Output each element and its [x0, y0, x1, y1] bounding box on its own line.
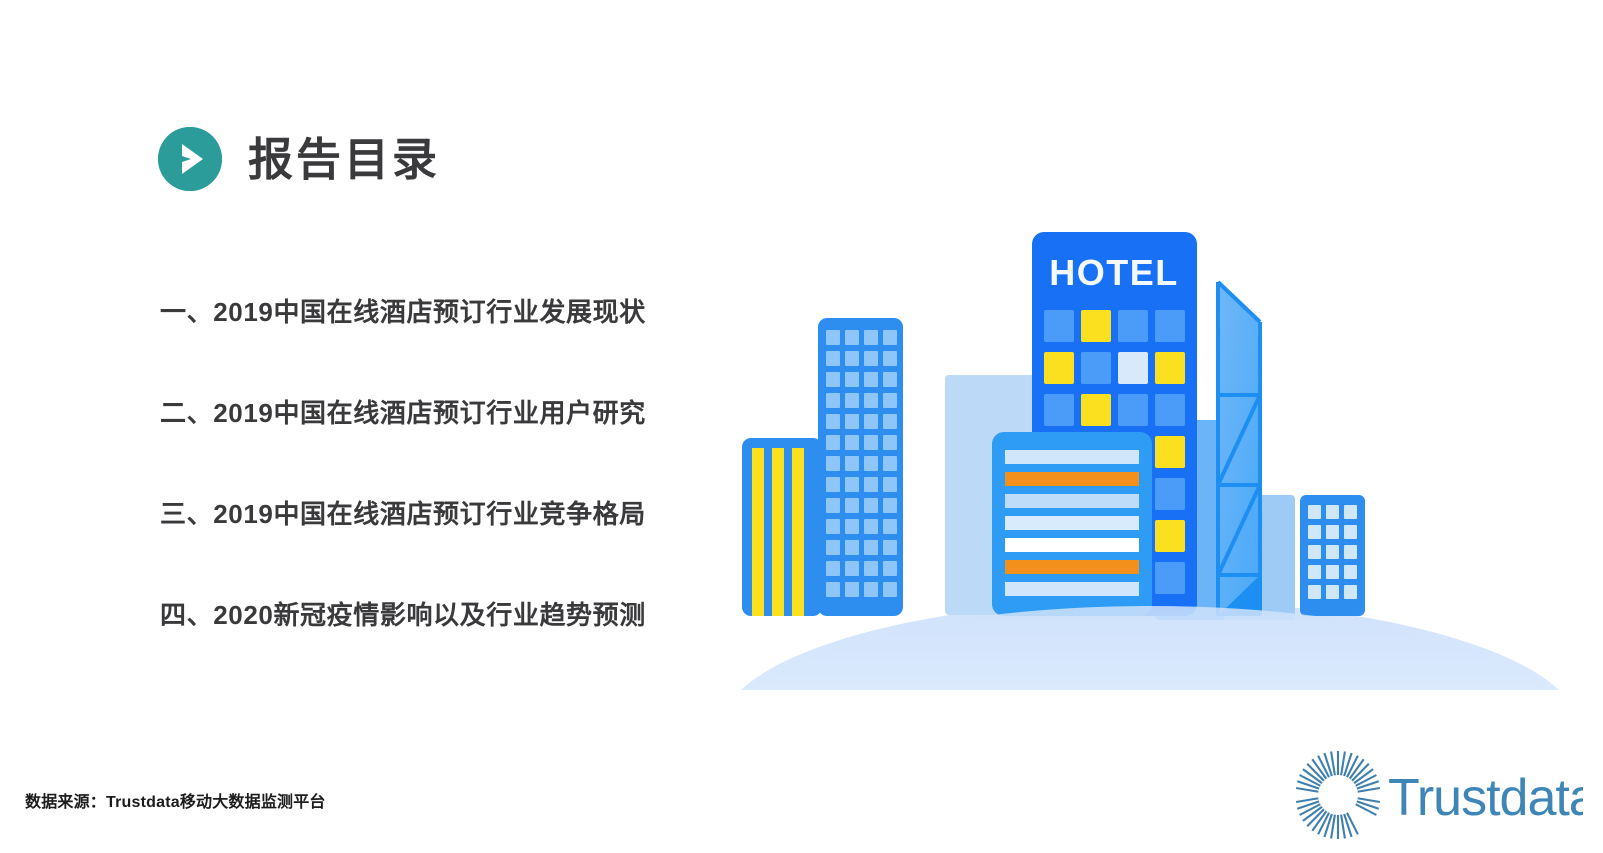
- chevron-right-circle-icon: [158, 127, 222, 191]
- trustdata-logo: Trustdata: [1283, 745, 1583, 845]
- city-hotel-illustration: HOTEL: [700, 210, 1600, 690]
- trustdata-wordmark: Trustdata: [1388, 769, 1583, 827]
- front-striped-building: [992, 432, 1152, 616]
- slanted-glass-building: [1218, 282, 1260, 616]
- data-source-note: 数据来源：Trustdata移动大数据监测平台: [25, 788, 326, 812]
- striped-building: [742, 438, 822, 616]
- page-title-row: 报告目录: [158, 127, 440, 191]
- page-title: 报告目录: [248, 137, 440, 182]
- left-tower: [818, 318, 903, 616]
- hotel-sign: HOTEL: [1049, 252, 1179, 293]
- right-small-building: [1300, 495, 1365, 616]
- slide-root: 报告目录 一、2019中国在线酒店预订行业发展现状 二、2019中国在线酒店预订…: [0, 0, 1603, 853]
